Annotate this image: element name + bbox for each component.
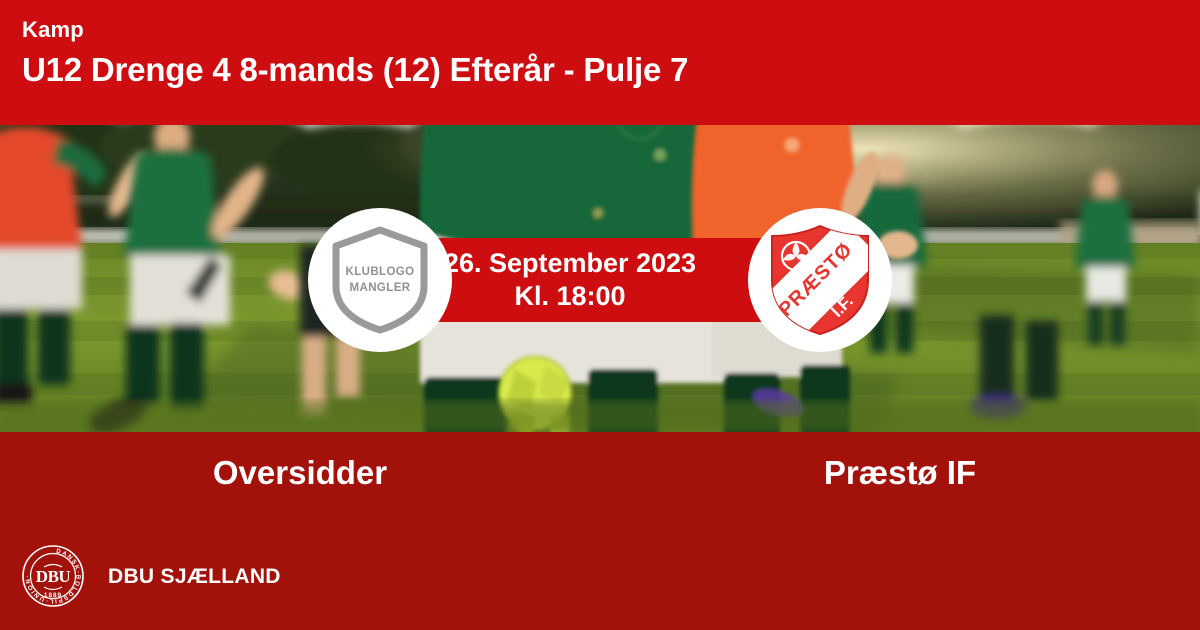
away-club-logo: PRÆSTØ I.F. bbox=[748, 208, 892, 352]
card-footer: DANSK·BOLDSPIL·UNION· DBU 1889 DBU SJÆLL… bbox=[0, 535, 1200, 630]
praesto-if-crest: PRÆSTØ I.F. bbox=[764, 222, 876, 338]
dbu-logo-icon: DANSK·BOLDSPIL·UNION· DBU 1889 bbox=[22, 545, 84, 607]
home-club-logo: KLUBLOGO MANGLER bbox=[308, 208, 452, 352]
footer-organization-label: DBU SJÆLLAND bbox=[108, 565, 281, 589]
club-logo-placeholder-line1: KLUBLOGO bbox=[346, 265, 415, 279]
header-kicker: Kamp bbox=[22, 18, 1200, 42]
page-title: U12 Drenge 4 8-mands (12) Efterår - Pulj… bbox=[22, 51, 1200, 89]
match-time: Kl. 18:00 bbox=[514, 280, 625, 313]
home-team-name: Oversidder bbox=[0, 454, 600, 492]
dbu-seal-icon: DANSK·BOLDSPIL·UNION· DBU 1889 bbox=[22, 545, 84, 607]
team-names-row: Oversidder Præstø IF bbox=[0, 432, 1200, 532]
away-team-name: Præstø IF bbox=[600, 454, 1200, 492]
svg-text:1889: 1889 bbox=[44, 592, 62, 599]
card-header: Kamp U12 Drenge 4 8-mands (12) Efterår -… bbox=[0, 0, 1200, 125]
match-date: 26. September 2023 bbox=[444, 247, 696, 280]
svg-text:DBU: DBU bbox=[36, 567, 71, 586]
club-logo-placeholder-line2: MANGLER bbox=[350, 281, 411, 295]
crest-icon: PRÆSTØ I.F. bbox=[764, 222, 876, 338]
match-card: Kamp U12 Drenge 4 8-mands (12) Efterår -… bbox=[0, 0, 1200, 630]
club-logo-placeholder-shield: KLUBLOGO MANGLER bbox=[328, 224, 432, 336]
